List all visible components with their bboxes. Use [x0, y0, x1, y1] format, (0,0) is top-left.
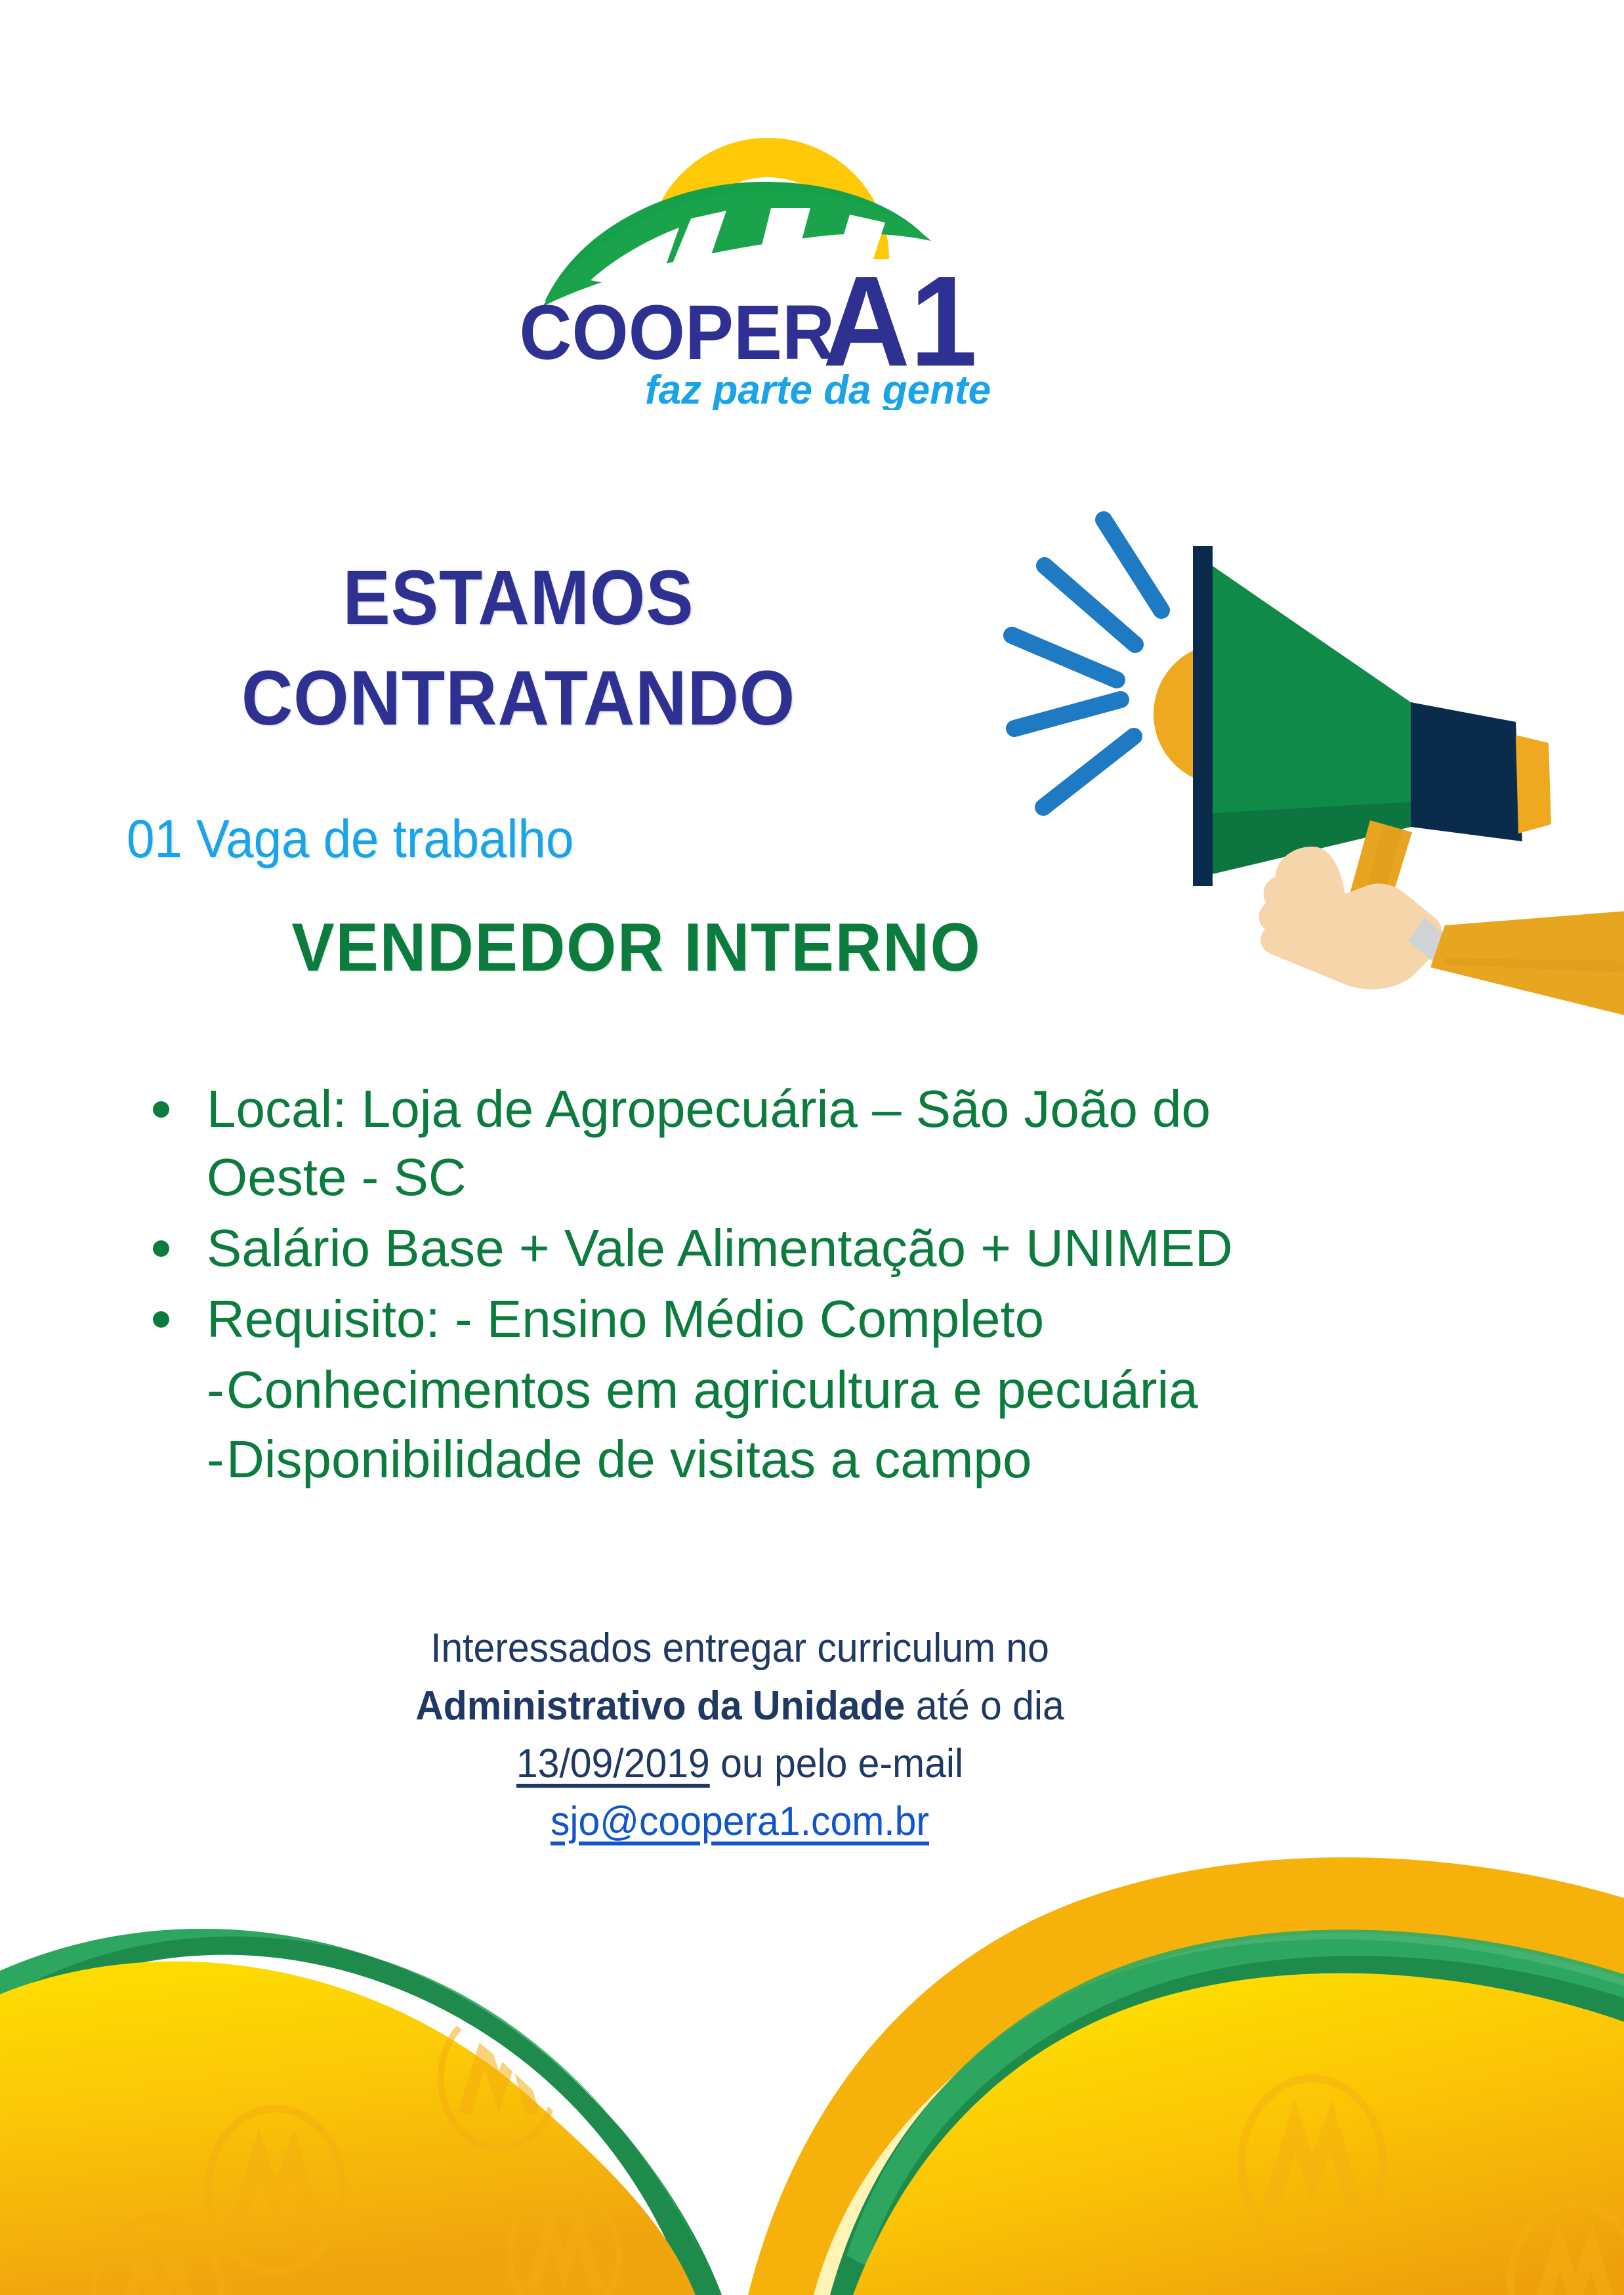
sleeve-shape	[1430, 911, 1624, 1016]
list-item: Requisito: - Ensino Médio Completo	[135, 1285, 1499, 1353]
cone-shade-shape	[1201, 802, 1411, 877]
job-posting-flyer: COOPER A1 faz parte da gente	[0, 0, 1624, 2295]
sub-item-2-text: Disponibilidade de visitas a campo	[226, 1430, 1031, 1488]
vacancy-count-label: 01 Vaga de trabalho	[127, 810, 573, 869]
logo-cooper-text: COOPER	[519, 289, 835, 376]
headline-line-2: CONTRATANDO	[41, 648, 995, 749]
headline-line-1: ESTAMOS	[41, 548, 995, 648]
bullet-3-line-1: Requisito: - Ensino Médio Completo	[207, 1285, 1499, 1353]
bullet-1-line-1: Local: Loja de Agropecuária – São João d…	[207, 1075, 1499, 1143]
sub-item-1-text: Conhecimentos em agricultura e pecuária	[226, 1360, 1198, 1419]
wave-decoration	[0, 1796, 1624, 2295]
contact-line-1: Interessados entregar curriculum no	[37, 1620, 1442, 1677]
burst-circle-shape	[1154, 643, 1295, 785]
logo-tagline-text: faz parte da gente	[645, 368, 991, 410]
deadline-date: 13/09/2019	[516, 1741, 710, 1786]
bullet-1-line-2: Oeste - SC	[207, 1143, 1499, 1211]
cone-shape	[1201, 558, 1411, 877]
job-title: VENDEDOR INTERNO	[38, 910, 1235, 985]
sub-item-1-dash: -	[207, 1356, 224, 1424]
bullet-2-line-1: Salário Base + Vale Alimentação + UNIMED	[207, 1214, 1499, 1282]
sound-lines-icon	[1012, 520, 1161, 807]
sub-item-2-dash: -	[207, 1425, 224, 1494]
hand-shape	[1259, 847, 1442, 990]
contact-line-2-rest: até o dia	[905, 1683, 1064, 1729]
coopera1-logo: COOPER A1 faz parte da gente	[482, 62, 1040, 410]
list-item: Salário Base + Vale Alimentação + UNIMED	[135, 1214, 1499, 1282]
megaphone-body-shape	[1411, 702, 1522, 841]
contact-office-name: Administrativo da Unidade	[415, 1683, 905, 1729]
list-item: Local: Loja de Agropecuária – São João d…	[135, 1075, 1499, 1211]
sub-item: - Disponibilidade de visitas a campo	[135, 1425, 1499, 1494]
sub-item: - Conhecimentos em agricultura e pecuári…	[135, 1356, 1499, 1424]
contact-line-2: Administrativo da Unidade até o dia	[37, 1677, 1442, 1735]
contact-line-3: 13/09/2019 ou pelo e-mail	[37, 1735, 1442, 1793]
job-details-list: Local: Loja de Agropecuária – São João d…	[135, 1075, 1499, 1494]
back-cap-shape	[1516, 735, 1551, 833]
wrist-cuff-shape	[1408, 917, 1453, 965]
contact-line-3-rest: ou pelo e-mail	[710, 1741, 963, 1786]
page-title: ESTAMOS CONTRATANDO	[41, 548, 995, 749]
megaphone-rim-shape	[1193, 546, 1213, 886]
handle-shape	[1333, 820, 1412, 965]
